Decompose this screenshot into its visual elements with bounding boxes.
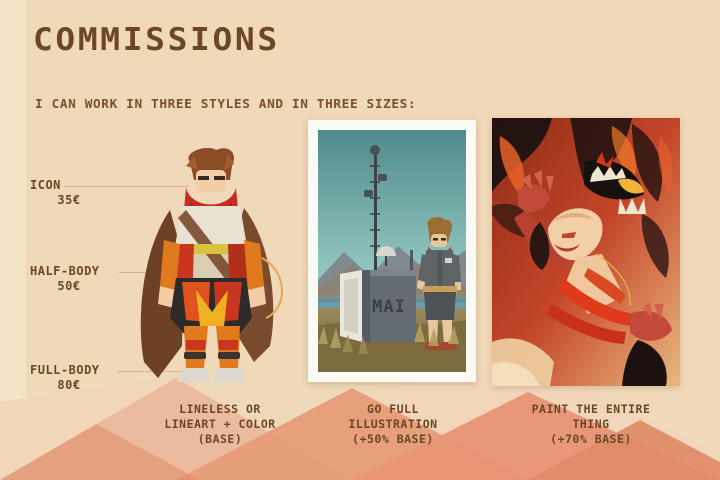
- caption-painted-line1: PAINT THE ENTIRE: [498, 402, 684, 417]
- tier-name-icon: ICON: [30, 178, 108, 192]
- page-subtitle: I CAN WORK IN THREE STYLES AND IN THREE …: [35, 96, 416, 111]
- price-tier-full-body: FULL-BODY 80€: [30, 363, 108, 392]
- caption-painted-line3: (+70% BASE): [498, 432, 684, 447]
- artwork-painted: [492, 118, 680, 386]
- artwork-illustration: MAI: [308, 120, 476, 382]
- caption-painted-line2: THING: [498, 417, 684, 432]
- artwork-box-label: MAI: [372, 297, 406, 317]
- caption-illustration-line1: GO FULL: [310, 402, 476, 417]
- caption-lineless-line3: (BASE): [130, 432, 310, 447]
- tier-price-icon: 35€: [30, 193, 108, 207]
- price-tier-half-body: HALF-BODY 50€: [30, 264, 108, 293]
- tier-price-half-body: 50€: [30, 279, 108, 293]
- tier-price-full-body: 80€: [30, 378, 108, 392]
- price-tier-icon: ICON 35€: [30, 178, 108, 207]
- caption-illustration-line2: ILLUSTRATION: [310, 417, 476, 432]
- artwork-lineless: [112, 140, 297, 390]
- page-title: COMMISSIONS: [33, 22, 280, 58]
- artwork-illustration-image: MAI: [318, 130, 466, 372]
- tier-name-full-body: FULL-BODY: [30, 363, 108, 377]
- tier-name-half-body: HALF-BODY: [30, 264, 108, 278]
- caption-lineless-line2: LINEART + COLOR: [130, 417, 310, 432]
- caption-painted: PAINT THE ENTIRE THING (+70% BASE): [498, 402, 684, 447]
- caption-lineless: LINELESS OR LINEART + COLOR (BASE): [130, 402, 310, 447]
- caption-illustration-line3: (+50% BASE): [310, 432, 476, 447]
- commission-sheet: COMMISSIONS I CAN WORK IN THREE STYLES A…: [0, 0, 720, 480]
- caption-illustration: GO FULL ILLUSTRATION (+50% BASE): [310, 402, 476, 447]
- caption-lineless-line1: LINELESS OR: [130, 402, 310, 417]
